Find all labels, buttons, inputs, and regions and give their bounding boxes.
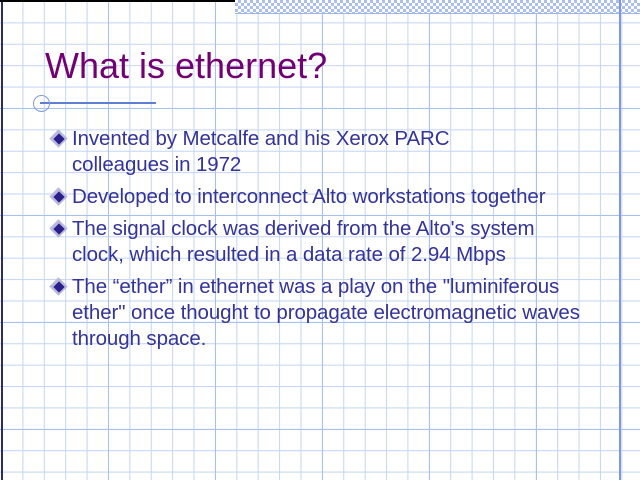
top-black-band (0, 0, 235, 2)
left-margin-rule (1, 0, 3, 480)
diamond-bullet-icon (51, 184, 72, 210)
diamond-bullet-icon (51, 216, 72, 242)
list-item-label: The “ether” in ethernet was a play on th… (72, 274, 617, 352)
top-hatched-band (235, 0, 640, 13)
list-item: Developed to interconnect Alto workstati… (51, 184, 621, 210)
presentation-slide: What is ethernet? Invented by Metcalfe a… (0, 0, 640, 480)
diamond-bullet-icon (51, 274, 72, 300)
slide-title: What is ethernet? (45, 44, 327, 88)
title-circle-ornament-icon (33, 95, 50, 112)
diamond-bullet-icon (51, 126, 72, 152)
title-underline-rule (40, 102, 156, 104)
list-item-label: Developed to interconnect Alto workstati… (72, 184, 582, 210)
list-item: Invented by Metcalfe and his Xerox PARC … (51, 126, 621, 178)
list-item-label: Invented by Metcalfe and his Xerox PARC … (72, 126, 542, 178)
list-item: The “ether” in ethernet was a play on th… (51, 274, 621, 352)
list-item-label: The signal clock was derived from the Al… (72, 216, 587, 268)
list-item: The signal clock was derived from the Al… (51, 216, 621, 268)
top-hatched-band-underline (235, 13, 640, 14)
bullet-list: Invented by Metcalfe and his Xerox PARC … (51, 126, 621, 358)
